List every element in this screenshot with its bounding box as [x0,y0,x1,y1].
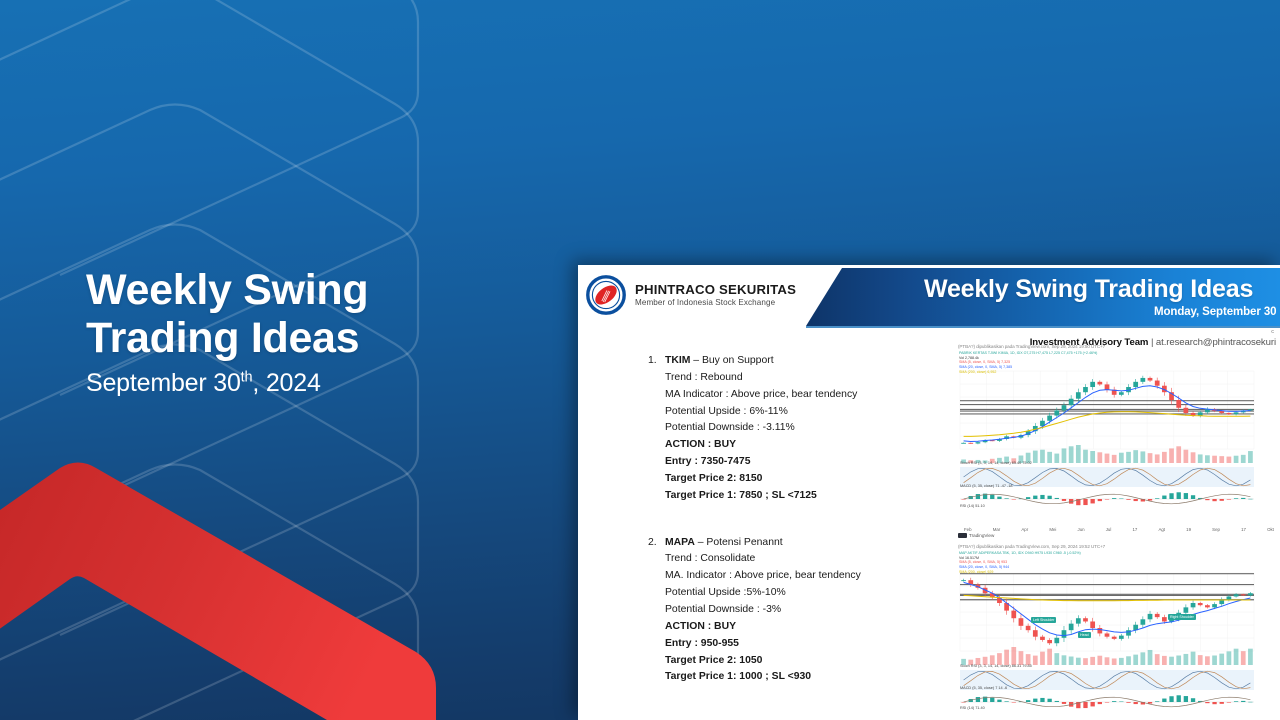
chart-legend: MAP AKTIF ADIPERKASA TBK, 1D, IDX O940 H… [959,551,1081,575]
chart-legend: PABRIK KERTAS TJIWI KIMIA, 1D, IDX O7,27… [959,351,1097,375]
stoch-rsi-label: Stoch RSI (3, 3, 14, 14, close) 86.31 79… [960,664,1032,668]
chart-1-x-axis: Feb Mar Apr Mei Jun Jul 17 Agt 19 Sep 17… [956,526,1280,532]
charts-column: (PTBA?) dipublikasikan pada TradingView.… [956,343,1280,720]
company-tagline: Member of Indonesia Stock Exchange [635,299,796,307]
idea-target-price-1: Target Price 1: 1000 ; SL <930 [665,669,948,686]
legend-sma200: SMA (200, close) 6,952 [959,370,1097,375]
banner-date: Monday, September 30 [1154,306,1276,318]
red-chevron-accent [0,440,480,720]
stoch-rsi-label: Stoch RSI (3, 3, 14, 14, close) 65.40 75… [960,461,1032,465]
idea-ticker: MAPA [665,537,695,548]
x-tick: Mar [993,527,1001,532]
idea-number: 2. [648,535,665,552]
annotation-head: Head [1078,632,1091,638]
chart-tkim[interactable]: (PTBA?) dipublikasikan pada TradingView.… [956,344,1280,538]
idea-detail-lines: Trend : Consolidate MA. Indicator : Abov… [665,551,948,686]
idea-target-price-1: Target Price 1: 7850 ; SL <7125 [665,488,948,505]
slide-canvas: Weekly Swing Trading Ideas September 30t… [0,0,1280,720]
rsi-label: RSI (14) 51.10 [960,504,985,508]
phintraco-logo-icon [586,275,626,315]
x-tick: 17 [1241,527,1246,532]
chart-1-canvas [956,349,1280,521]
idea-entry: Entry : 7350-7475 [665,454,948,471]
tradingview-attribution: TradingView [958,533,1280,538]
rsi-label: RSI (14) 71.40 [960,706,985,710]
idea-ticker: TKIM [665,355,690,366]
logo-text: PHINTRACO SEKURITAS Member of Indonesia … [635,283,796,307]
legend-sma200: SMA (200, close) 929 [959,570,1081,575]
x-tick: Feb [964,527,972,532]
annotation-left-shoulder: Left Shoulder [1031,617,1056,623]
subtitle-ordinal: th [241,370,253,386]
x-tick: 19 [1186,527,1191,532]
page-subtitle: September 30th, 2024 [86,369,556,398]
idea-detail-lines: Trend : Rebound MA Indicator : Above pri… [665,370,948,505]
idea-trend: Trend : Consolidate [665,551,948,568]
x-tick: Okt [1267,527,1274,532]
idea-potential-downside: Potential Downside : -3.11% [665,420,948,437]
x-tick: Agt [1158,527,1165,532]
list-item[interactable]: 1. TKIM – Buy on Support Trend : Rebound… [648,353,948,505]
idea-entry: Entry : 950-955 [665,636,948,653]
idea-action: ACTION : BUY [665,437,948,454]
chart-mapa[interactable]: (PTBA?) dipublikasikan pada TradingView.… [956,544,1280,720]
idea-target-price-2: Target Price 2: 8150 [665,471,948,488]
report-banner: Weekly Swing Trading Ideas Monday, Septe… [806,268,1280,326]
x-tick: Jul [1106,527,1112,532]
idea-number: 1. [648,353,665,370]
x-tick: 17 [1132,527,1137,532]
annotation-right-shoulder: Right Shoulder [1168,614,1196,620]
title-block: Weekly Swing Trading Ideas September 30t… [86,266,556,398]
idea-action: ACTION : BUY [665,619,948,636]
idea-action-headline: – Potensi Penannt [698,537,783,548]
idea-potential-upside: Potential Upside : 6%-11% [665,404,948,421]
trading-ideas-list: 1. TKIM – Buy on Support Trend : Rebound… [648,353,948,712]
idea-headline: 2. MAPA – Potensi Penannt [648,535,948,552]
banner-title: Weekly Swing Trading Ideas [924,275,1253,304]
idea-ma-indicator: MA Indicator : Above price, bear tendenc… [665,387,948,404]
idea-target-price-2: Target Price 2: 1050 [665,653,948,670]
list-item[interactable]: 2. MAPA – Potensi Penannt Trend : Consol… [648,535,948,687]
page-title: Weekly Swing Trading Ideas [86,266,556,362]
idea-potential-upside: Potential Upside :5%-10% [665,585,948,602]
contact-tiny-text: c [1271,329,1274,335]
x-tick: Apr [1021,527,1028,532]
company-logo-area: PHINTRACO SEKURITAS Member of Indonesia … [586,275,796,315]
idea-action-headline: – Buy on Support [693,355,773,366]
idea-trend: Trend : Rebound [665,370,948,387]
idea-potential-downside: Potential Downside : -3% [665,602,948,619]
subtitle-year: , 2024 [252,369,320,397]
legend-symbol: PABRIK KERTAS TJIWI KIMIA, 1D, IDX O7,27… [959,351,1097,356]
x-tick: Mei [1049,527,1056,532]
company-name: PHINTRACO SEKURITAS [635,283,796,297]
document-header: PHINTRACO SEKURITAS Member of Indonesia … [578,265,1280,333]
x-tick: Sep [1212,527,1220,532]
macd-label: MACD (5, 35, close) 71 -47 -18 [960,484,1013,488]
banner-underline [806,326,1280,328]
subtitle-date: September 30 [86,369,241,397]
macd-label: MACD (5, 35, close) 7 14 -6 [960,686,1007,690]
tradingview-icon [958,533,967,538]
idea-headline: 1. TKIM – Buy on Support [648,353,948,370]
report-document-panel[interactable]: PHINTRACO SEKURITAS Member of Indonesia … [578,265,1280,720]
idea-ma-indicator: MA. Indicator : Above price, bear tenden… [665,568,948,585]
x-tick: Jun [1078,527,1085,532]
